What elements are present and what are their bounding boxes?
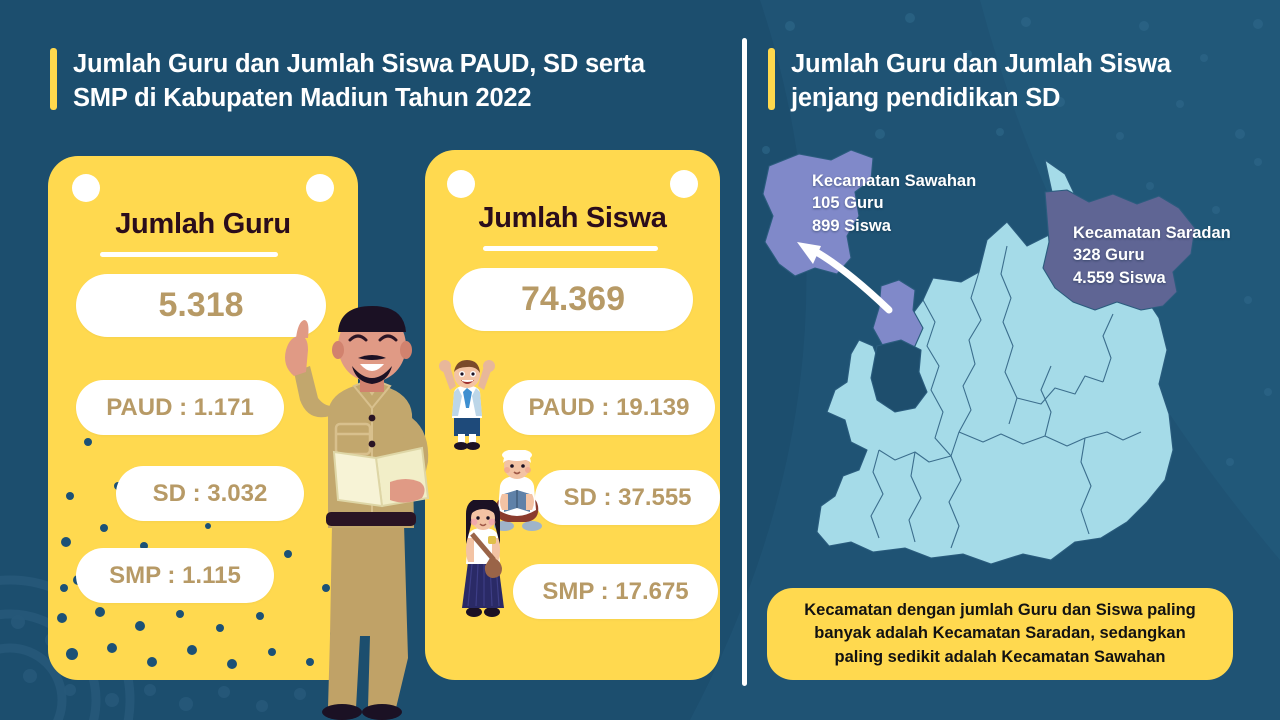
student-boy-paud-illustration <box>432 358 502 450</box>
map-label-saradan: Kecamatan Saradan 328 Guru 4.559 Siswa <box>1073 222 1231 289</box>
card-heading-siswa: Jumlah Siswa <box>425 202 720 235</box>
panel-divider <box>742 38 747 686</box>
map-region-enclave <box>871 340 927 412</box>
student-girl-smp-illustration <box>452 500 514 618</box>
right-panel-title: Jumlah Guru dan Jumlah Siswa jenjang pen… <box>768 48 1228 116</box>
card-heading-rule <box>483 246 658 251</box>
card-notch-left <box>72 174 100 202</box>
title-accent-bar <box>50 48 57 110</box>
card-heading-rule <box>100 252 278 257</box>
card-row-siswa-smp: SMP : 17.675 <box>513 564 718 619</box>
teacher-illustration <box>272 306 452 720</box>
card-row-siswa-sd: SD : 37.555 <box>535 470 720 525</box>
card-notch-left <box>447 170 475 198</box>
card-total-siswa: 74.369 <box>453 268 693 331</box>
card-row-siswa-paud: PAUD : 19.139 <box>503 380 715 435</box>
summary-note-text: Kecamatan dengan jumlah Guru dan Siswa p… <box>804 599 1196 669</box>
summary-note-box: Kecamatan dengan jumlah Guru dan Siswa p… <box>767 588 1233 680</box>
card-heading-guru: Jumlah Guru <box>48 208 358 241</box>
map-label-sawahan: Kecamatan Sawahan 105 Guru 899 Siswa <box>812 170 976 237</box>
left-title-text: Jumlah Guru dan Jumlah Siswa PAUD, SD se… <box>73 48 645 116</box>
title-accent-bar <box>768 48 775 110</box>
card-notch-right <box>306 174 334 202</box>
card-notch-right <box>670 170 698 198</box>
left-panel-title: Jumlah Guru dan Jumlah Siswa PAUD, SD se… <box>50 48 710 116</box>
card-row-guru-paud: PAUD : 1.171 <box>76 380 284 435</box>
right-title-text: Jumlah Guru dan Jumlah Siswa jenjang pen… <box>791 48 1171 116</box>
card-row-guru-smp: SMP : 1.115 <box>76 548 274 603</box>
